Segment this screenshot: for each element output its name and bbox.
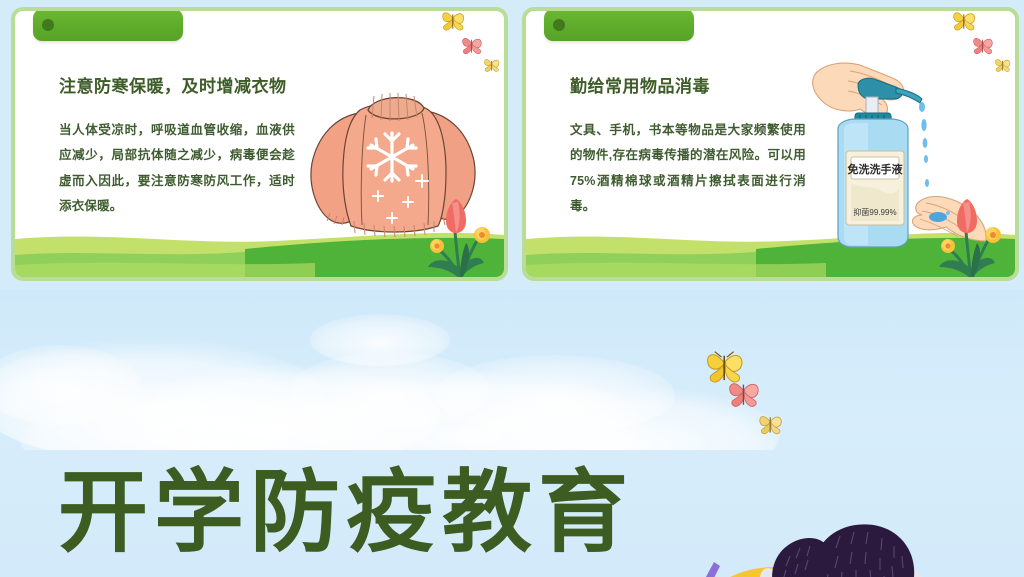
card-surface: 注意防寒保暖，及时增减衣物 当人体受凉时，呼吸道血管收缩，血液供应减少，局部抗体…	[15, 11, 504, 277]
content-card-1[interactable]: 注意防寒保暖，及时增减衣物 当人体受凉时，呼吸道血管收缩，血液供应减少，局部抗体…	[11, 7, 508, 281]
card-body-2: 文具、手机，书本等物品是大家频繁使用的物件,存在病毒传播的潜在风险。可以用75%…	[570, 118, 806, 221]
card-tab-2[interactable]	[544, 11, 694, 41]
pink-butterfly-icon	[463, 38, 482, 53]
sanitizer-sublabel-text: 抑菌99.99%	[853, 207, 896, 217]
yellow-butterfly-icon	[708, 352, 742, 382]
yellow-butterfly-icon	[954, 13, 975, 30]
card-tab-1[interactable]	[33, 11, 183, 41]
sweater-illustration	[296, 63, 486, 248]
cards-row: 注意防寒保暖，及时增减衣物 当人体受凉时，呼吸道血管收缩，血液供应减少，局部抗体…	[0, 0, 1024, 290]
sanitizer-label-text: 免洗洗手液	[848, 162, 904, 176]
card-surface: 免洗洗手液 抑菌99.99%	[526, 11, 1015, 277]
card-body-1: 当人体受凉时，呼吸道血管收缩，血液供应减少，局部抗体随之减少，病毒便会趁虚而入因…	[59, 118, 295, 221]
cloud-background	[0, 290, 1024, 450]
yellow-butterfly-icon	[443, 13, 464, 30]
slide-canvas: 注意防寒保暖，及时增减衣物 当人体受凉时，呼吸道血管收缩，血液供应减少，局部抗体…	[0, 0, 1024, 577]
page-title: 开学防疫教育	[58, 468, 634, 558]
content-card-2[interactable]: 免洗洗手液 抑菌99.99%	[522, 7, 1019, 281]
card-heading-1: 注意防寒保暖，及时增减衣物	[59, 72, 287, 97]
small-yellow-butterfly-icon	[995, 60, 1010, 72]
pink-butterfly-icon	[730, 384, 758, 407]
girl-character	[690, 500, 1024, 577]
card-heading-2: 勤给常用物品消毒	[570, 72, 710, 97]
hand-sanitizer-illustration: 免洗洗手液 抑菌99.99%	[810, 55, 995, 255]
pink-butterfly-icon	[974, 38, 993, 53]
small-yellow-butterfly-icon	[484, 60, 499, 72]
butterfly-cluster-sky	[694, 335, 804, 450]
small-yellow-butterfly-icon	[760, 417, 782, 434]
